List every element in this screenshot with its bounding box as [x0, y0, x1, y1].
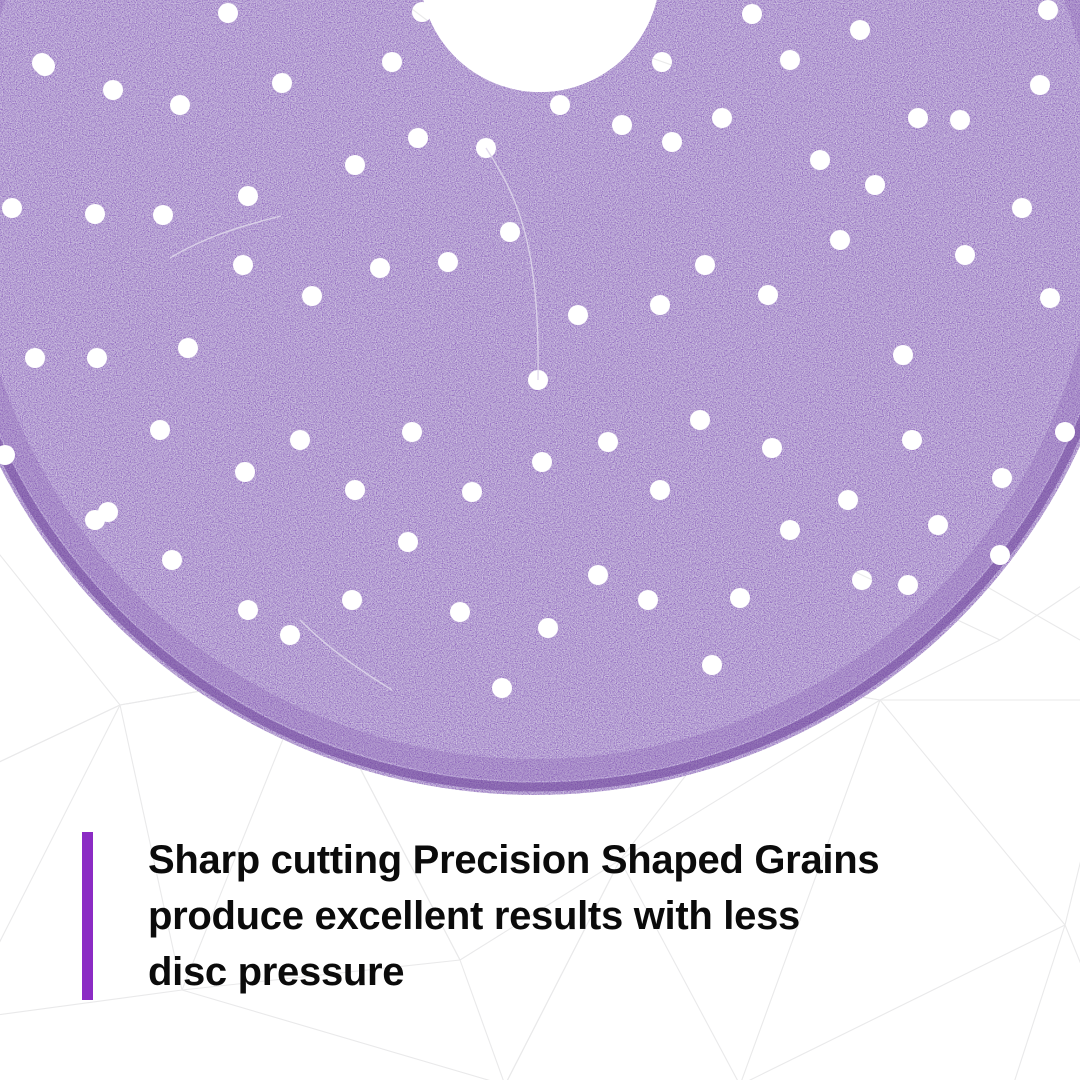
- stray-fibres: [170, 148, 538, 690]
- product-feature-card: Sharp cutting Precision Shaped Grains pr…: [0, 0, 1080, 1080]
- caption-line-2: produce excellent results with less: [148, 888, 879, 944]
- accent-bar: [82, 832, 93, 1000]
- disc-print-watermark: [90, 192, 940, 695]
- caption-text: Sharp cutting Precision Shaped Grains pr…: [148, 832, 879, 1000]
- caption-line-1: Sharp cutting Precision Shaped Grains: [148, 832, 879, 888]
- caption-line-3: disc pressure: [148, 944, 879, 1000]
- caption-block: Sharp cutting Precision Shaped Grains pr…: [82, 832, 879, 1000]
- center-mounting-hole: [420, 0, 660, 92]
